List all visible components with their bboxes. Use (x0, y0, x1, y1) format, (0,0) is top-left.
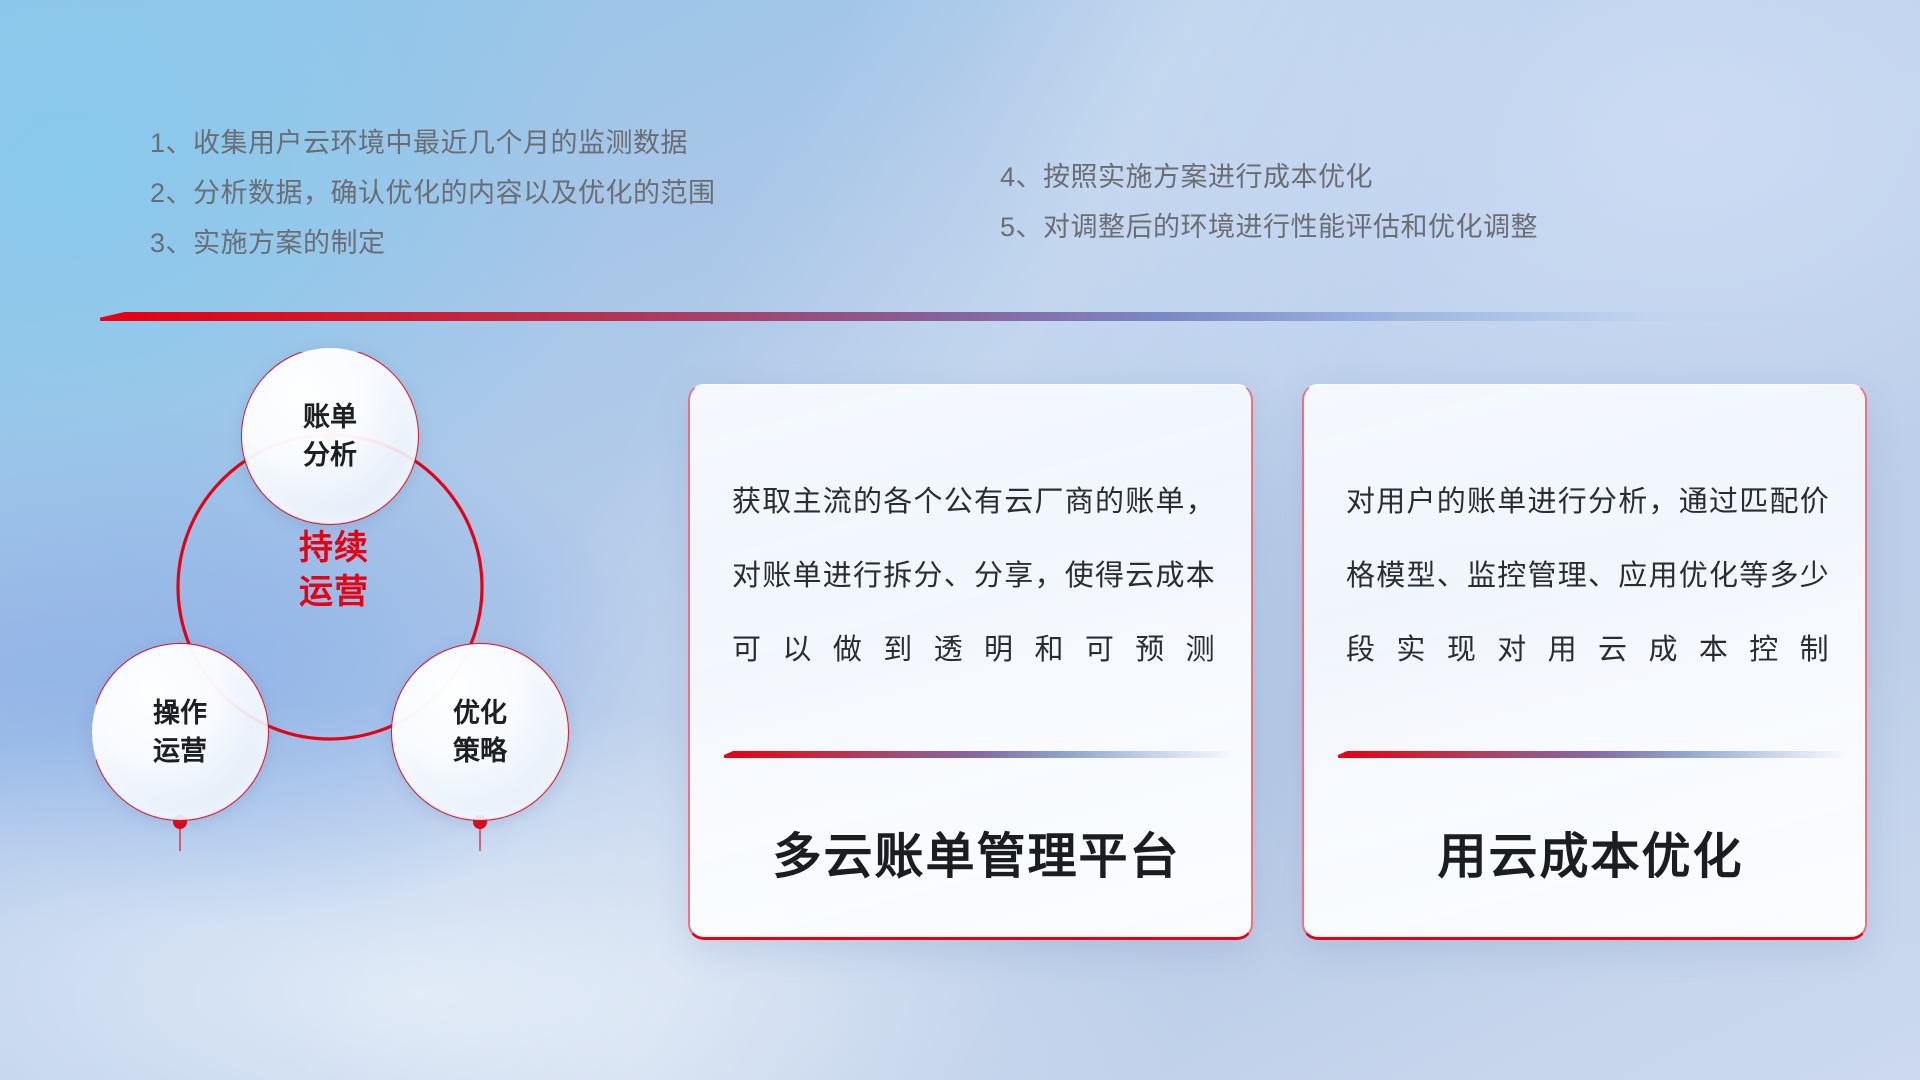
diagram-center-label: 持续 运营 (264, 526, 404, 614)
feature-card-cloud-cost-optimization[interactable]: 对用户的账单进行分析，通过匹配价格模型、监控管理、应用优化等多少段实现对用云成本… (1302, 384, 1867, 940)
feature-card-multi-cloud-billing-platform[interactable]: 获取主流的各个公有云厂商的账单，对账单进行拆分、分享，使得云成本可以做到透明和可… (688, 384, 1253, 940)
diagram-node-billing-analysis[interactable]: 账单 分析 (242, 348, 418, 524)
step-item-2: 2、分析数据，确认优化的内容以及优化的范围 (150, 168, 716, 218)
step-item-3: 3、实施方案的制定 (150, 218, 716, 268)
card-accent-rule (724, 751, 1233, 758)
section-divider (100, 312, 1860, 321)
steps-right-column: 4、按照实施方案进行成本优化 5、对调整后的环境进行性能评估和优化调整 (1000, 152, 1538, 252)
diagram-node-operations[interactable]: 操作 运营 (92, 644, 268, 820)
step-item-1: 1、收集用户云环境中最近几个月的监测数据 (150, 118, 716, 168)
steps-left-column: 1、收集用户云环境中最近几个月的监测数据 2、分析数据，确认优化的内容以及优化的… (150, 118, 716, 268)
diagram-center-label-line1: 持续 (264, 526, 404, 570)
step-item-5: 5、对调整后的环境进行性能评估和优化调整 (1000, 202, 1538, 252)
diagram-node-label-line2: 运营 (153, 732, 207, 770)
diagram-node-label-line2: 策略 (453, 732, 507, 770)
slide-canvas: 1、收集用户云环境中最近几个月的监测数据 2、分析数据，确认优化的内容以及优化的… (0, 0, 1920, 1080)
card-body-text: 获取主流的各个公有云厂商的账单，对账单进行拆分、分享，使得云成本可以做到透明和可… (732, 465, 1215, 687)
card-body-text: 对用户的账单进行分析，通过匹配价格模型、监控管理、应用优化等多少段实现对用云成本… (1346, 465, 1829, 687)
continuous-operation-diagram: 账单 分析 操作 运营 优化 策略 持续 运营 (96, 352, 656, 962)
card-title: 用云成本优化 (1346, 817, 1835, 888)
diagram-node-label-line1: 操作 (153, 694, 207, 732)
step-item-4: 4、按照实施方案进行成本优化 (1000, 152, 1538, 202)
card-accent-rule (1338, 751, 1847, 758)
diagram-center-label-line2: 运营 (264, 570, 404, 614)
diagram-node-label-line2: 分析 (303, 436, 357, 474)
card-title: 多云账单管理平台 (732, 817, 1221, 888)
diagram-node-optimization-strategy[interactable]: 优化 策略 (392, 644, 568, 820)
diagram-node-label-line1: 优化 (453, 694, 507, 732)
diagram-node-label-line1: 账单 (303, 398, 357, 436)
